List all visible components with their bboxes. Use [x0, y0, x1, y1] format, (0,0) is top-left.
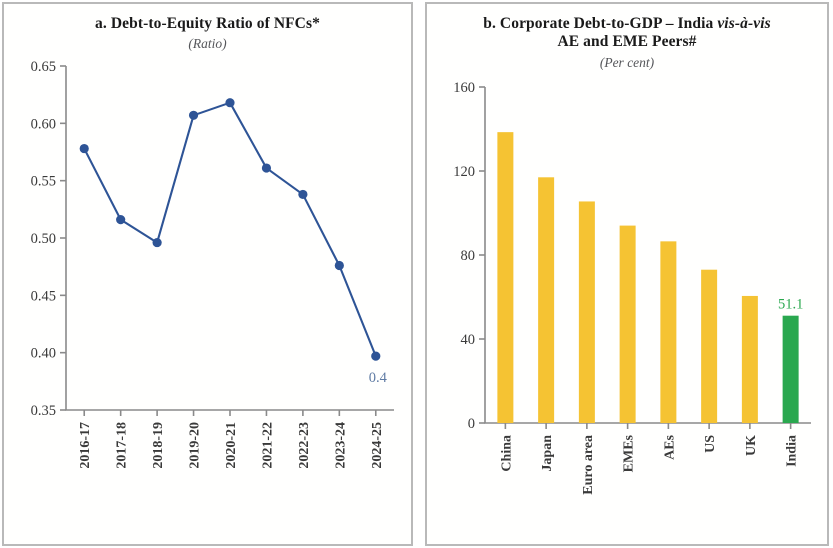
panel-b-title-text-part1: b. Corporate Debt-to-GDP – India [483, 15, 717, 32]
x-tick-label: 2019-20 [188, 422, 203, 469]
line-chart-plot-area: 0.350.400.450.500.550.600.652016-172017-… [4, 52, 411, 546]
panel-b-subtitle: (Per cent) [427, 55, 827, 71]
y-tick-label: 160 [453, 80, 475, 96]
x-tick-label: 2018-19 [151, 422, 166, 469]
line-data-point [371, 352, 380, 361]
y-tick-label: 0.55 [31, 174, 56, 190]
y-tick-label: 0.40 [31, 346, 56, 362]
line-value-label: 0.4 [369, 370, 388, 386]
bar [701, 269, 717, 422]
bar [660, 241, 676, 423]
panel-a-title-text: a. Debt-to-Equity Ratio of NFCs* [95, 15, 320, 32]
x-category-label: China [499, 435, 514, 472]
y-tick-label: 40 [461, 332, 476, 348]
x-tick-label: 2022-23 [297, 422, 312, 469]
bar [742, 296, 758, 423]
panel-corporate-debt-to-gdp: b. Corporate Debt-to-GDP – India vis-à-v… [425, 2, 829, 546]
x-category-label: India [785, 435, 800, 467]
line-chart-svg: 0.350.400.450.500.550.600.652016-172017-… [4, 52, 411, 532]
y-tick-label: 0.50 [31, 231, 56, 247]
x-category-label: UK [744, 434, 759, 455]
bar [620, 225, 636, 422]
x-category-label: AEs [662, 434, 677, 459]
line-data-point [298, 190, 307, 199]
y-tick-label: 80 [461, 248, 476, 264]
axes [485, 87, 811, 423]
line-data-point [153, 238, 162, 247]
panel-a-title: a. Debt-to-Equity Ratio of NFCs* [18, 15, 397, 33]
y-tick-label: 0.35 [31, 403, 56, 419]
x-category-label: EMEs [622, 434, 637, 472]
y-tick-label: 0 [468, 416, 475, 432]
line-data-point [225, 98, 234, 107]
line-data-point [335, 261, 344, 270]
panel-a-subtitle: (Ratio) [4, 36, 411, 52]
line-data-point [189, 111, 198, 120]
figure-container: a. Debt-to-Equity Ratio of NFCs* (Ratio)… [0, 0, 833, 548]
y-tick-label: 0.45 [31, 289, 56, 305]
x-tick-label: 2024-25 [370, 422, 385, 469]
x-tick-label: 2020-21 [224, 422, 239, 469]
x-tick-label: 2023-24 [333, 422, 348, 469]
line-series-debt-to-equity [84, 103, 376, 356]
panel-debt-to-equity: a. Debt-to-Equity Ratio of NFCs* (Ratio)… [2, 2, 413, 546]
bar-value-label: 51.1 [778, 296, 803, 312]
x-tick-label: 2017-18 [115, 422, 130, 469]
panel-b-title: b. Corporate Debt-to-GDP – India vis-à-v… [441, 15, 813, 52]
bar [497, 132, 513, 423]
x-category-label: Japan [540, 434, 555, 471]
bar [579, 201, 595, 423]
line-data-point [262, 164, 271, 173]
bar [783, 315, 799, 422]
y-tick-label: 120 [453, 164, 475, 180]
bar [538, 177, 554, 423]
line-data-point [80, 144, 89, 153]
x-tick-label: 2016-17 [78, 422, 93, 469]
axes [66, 66, 394, 410]
panel-b-title-italic: vis-à-vis [717, 15, 770, 32]
line-data-point [116, 215, 125, 224]
y-tick-label: 0.60 [31, 117, 56, 133]
y-tick-label: 0.65 [31, 59, 56, 75]
x-category-label: US [703, 434, 718, 452]
bar-chart-plot-area: 04080120160ChinaJapanEuro areaEMEsAEsUSU… [427, 71, 827, 546]
bar-chart-svg: 04080120160ChinaJapanEuro areaEMEsAEsUSU… [427, 71, 827, 541]
x-tick-label: 2021-22 [260, 422, 275, 469]
panel-b-title-text-part2: AE and EME Peers# [557, 33, 696, 50]
x-category-label: Euro area [581, 435, 596, 495]
